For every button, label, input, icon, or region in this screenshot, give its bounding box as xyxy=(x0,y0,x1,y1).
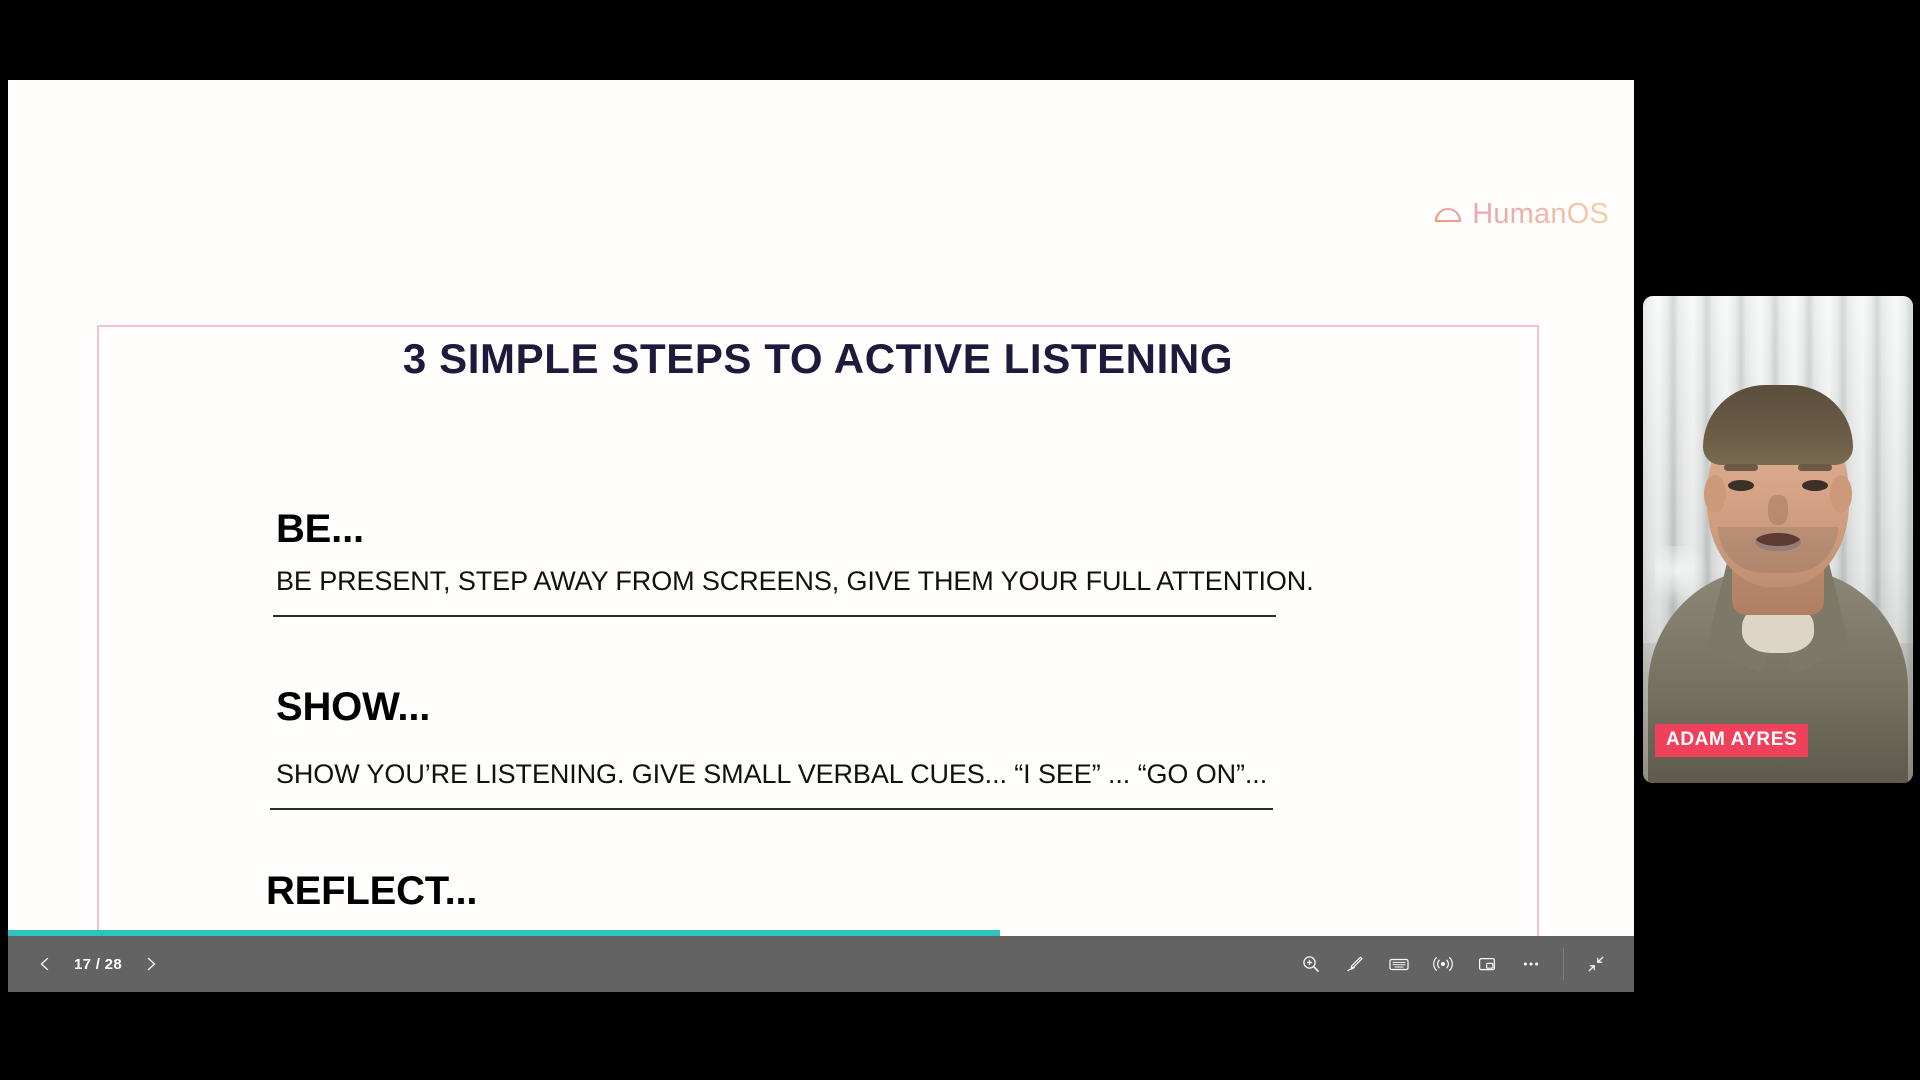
participant-figure xyxy=(1643,296,1913,783)
toolbar-divider xyxy=(1563,948,1564,980)
step-heading: REFLECT... xyxy=(266,869,477,914)
slide-title: 3 SIMPLE STEPS TO ACTIVE LISTENING xyxy=(97,335,1539,383)
captions-icon xyxy=(1388,954,1410,974)
brand-logo: HumanOS xyxy=(1433,198,1609,231)
participant-ear-left xyxy=(1704,475,1726,513)
participant-ear-right xyxy=(1830,475,1852,513)
brand-logo-text: HumanOS xyxy=(1472,198,1609,231)
step-divider xyxy=(273,615,1276,617)
participant-mouth xyxy=(1755,533,1801,551)
page-indicator: 17 / 28 xyxy=(64,956,132,973)
slide-canvas: HumanOS 3 SIMPLE STEPS TO ACTIVE LISTENI… xyxy=(8,80,1634,936)
participant-brow-right xyxy=(1798,464,1832,471)
participant-eye-left xyxy=(1728,480,1754,491)
annotate-button[interactable] xyxy=(1333,944,1377,984)
captions-button[interactable] xyxy=(1377,944,1421,984)
step-divider xyxy=(270,808,1273,810)
pen-annotate-icon xyxy=(1345,954,1365,974)
presentation-window: HumanOS 3 SIMPLE STEPS TO ACTIVE LISTENI… xyxy=(0,0,1920,1080)
chevron-left-icon xyxy=(37,956,53,972)
presentation-stage: HumanOS 3 SIMPLE STEPS TO ACTIVE LISTENI… xyxy=(8,80,1634,992)
participant-video-tile[interactable]: ADAM AYRES xyxy=(1643,296,1913,783)
more-options-button[interactable] xyxy=(1509,944,1553,984)
picture-in-picture-button[interactable] xyxy=(1465,944,1509,984)
exit-fullscreen-icon xyxy=(1586,954,1606,974)
chevron-right-icon xyxy=(143,956,159,972)
live-broadcast-button[interactable] xyxy=(1421,944,1465,984)
step-heading: BE... xyxy=(276,507,364,552)
picture-in-picture-icon xyxy=(1477,954,1497,974)
participant-eye-right xyxy=(1802,480,1828,491)
participant-nose xyxy=(1768,495,1788,525)
more-options-icon xyxy=(1520,954,1542,974)
participant-brow-left xyxy=(1724,464,1758,471)
previous-slide-button[interactable] xyxy=(28,947,62,981)
exit-fullscreen-button[interactable] xyxy=(1574,944,1618,984)
step-body: BE PRESENT, STEP AWAY FROM SCREENS, GIVE… xyxy=(276,566,1314,597)
participant-name-badge: ADAM AYRES xyxy=(1655,724,1808,757)
next-slide-button[interactable] xyxy=(134,947,168,981)
presentation-toolbar: 17 / 28 xyxy=(8,936,1634,992)
participant-hair xyxy=(1703,385,1853,465)
step-heading: SHOW... xyxy=(276,685,430,730)
toolbar-actions-group xyxy=(1289,944,1634,984)
step-body: SHOW YOU’RE LISTENING. GIVE SMALL VERBAL… xyxy=(276,759,1267,790)
zoom-in-icon xyxy=(1301,954,1321,974)
live-broadcast-icon xyxy=(1432,954,1454,974)
toolbar-nav-group: 17 / 28 xyxy=(8,947,168,981)
zoom-in-button[interactable] xyxy=(1289,944,1333,984)
humanos-dome-icon xyxy=(1433,200,1463,230)
